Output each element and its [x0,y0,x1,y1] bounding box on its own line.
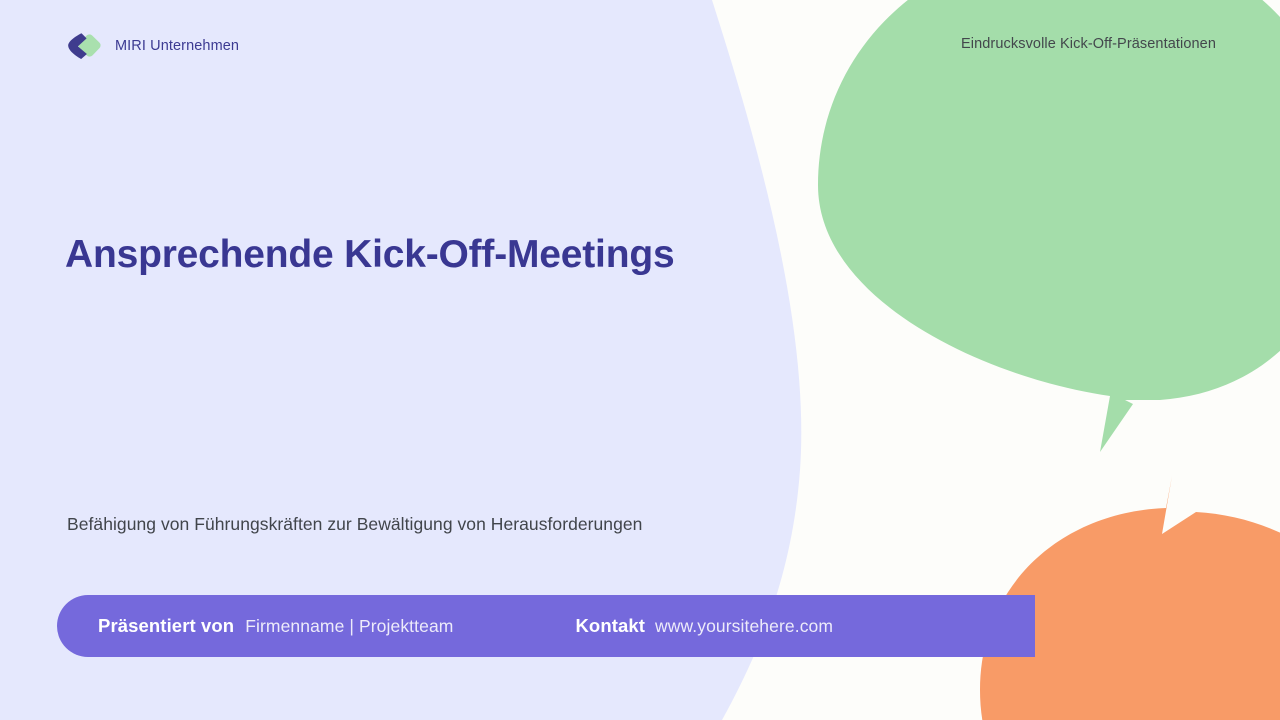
contact-label: Kontakt [575,615,645,637]
contact-group: Kontakt www.yoursitehere.com [575,615,833,637]
presented-by-value: Firmenname | Projektteam [245,616,453,637]
contact-website[interactable]: www.yoursitehere.com [655,616,833,637]
presented-by-group: Präsentiert von Firmenname | Projektteam [98,615,453,637]
presented-by-label: Präsentiert von [98,615,234,637]
footer-bar: Präsentiert von Firmenname | Projektteam… [57,595,1035,657]
slide-eyebrow-text: Eindrucksvolle Kick-Off-Präsentationen [961,36,1216,52]
brand-logo[interactable]: MIRI Unternehmen [64,30,239,62]
slide-canvas: MIRI Unternehmen Eindrucksvolle Kick-Off… [0,0,1280,720]
slide-subtitle: Befähigung von Führungskräften zur Bewäl… [67,514,642,535]
slide-title: Ansprechende Kick-Off-Meetings [65,232,674,278]
brand-name: MIRI Unternehmen [115,38,239,54]
miri-logo-mark-icon [64,30,104,62]
